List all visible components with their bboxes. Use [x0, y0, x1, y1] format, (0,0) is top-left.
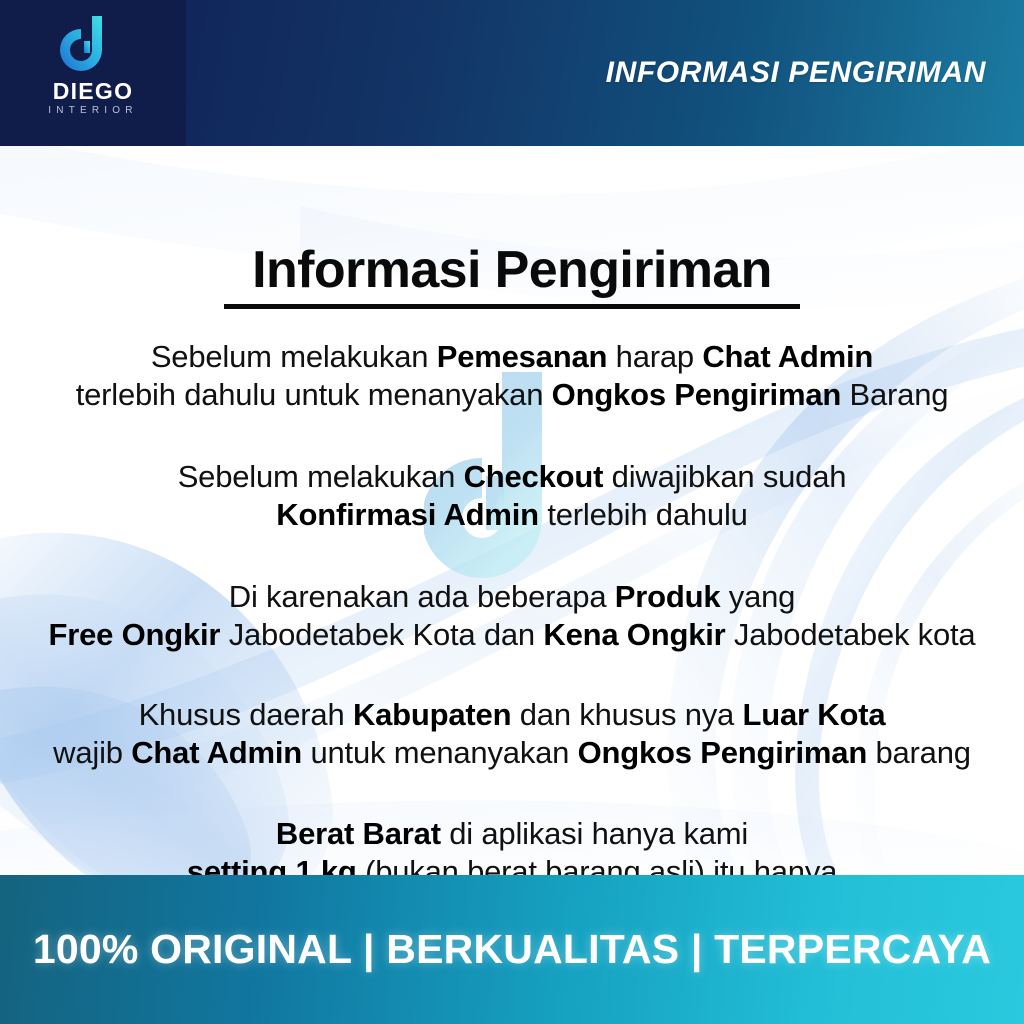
- page-title: Informasi Pengiriman: [0, 146, 1024, 298]
- poster-body: Informasi Pengiriman Sebelum melakukan P…: [0, 146, 1024, 875]
- paragraph-berat-barat: Berat Barat di aplikasi hanya kamisettin…: [0, 815, 1024, 875]
- footer-banner: 100% ORIGINAL | BERKUALITAS | TERPERCAYA: [0, 875, 1024, 1024]
- page-title-underline: [224, 304, 800, 309]
- paragraph-checkout: Sebelum melakukan Checkout diwajibkan su…: [0, 458, 1024, 534]
- footer-tagline: 100% ORIGINAL | BERKUALITAS | TERPERCAYA: [0, 875, 1024, 1024]
- paragraph-ongkir: Di karenakan ada beberapa Produk yangFre…: [0, 578, 1024, 654]
- content-text-block: Informasi Pengiriman Sebelum melakukan P…: [0, 146, 1024, 875]
- paragraph-kabupaten: Khusus daerah Kabupaten dan khusus nya L…: [0, 696, 1024, 772]
- header-title: INFORMASI PENGIRIMAN: [606, 0, 986, 146]
- brand-logo-panel: DIEGO INTERIOR: [0, 0, 186, 146]
- paragraph-pemesanan: Sebelum melakukan Pemesanan harap Chat A…: [0, 338, 1024, 414]
- droplet-d-logo-icon: [40, 14, 140, 80]
- brand-name: DIEGO: [0, 80, 186, 103]
- promo-poster: DIEGO INTERIOR INFORMASI PENGIRIMAN: [0, 0, 1024, 1024]
- brand-tagline: INTERIOR: [0, 106, 186, 116]
- header-bar: DIEGO INTERIOR INFORMASI PENGIRIMAN: [0, 0, 1024, 146]
